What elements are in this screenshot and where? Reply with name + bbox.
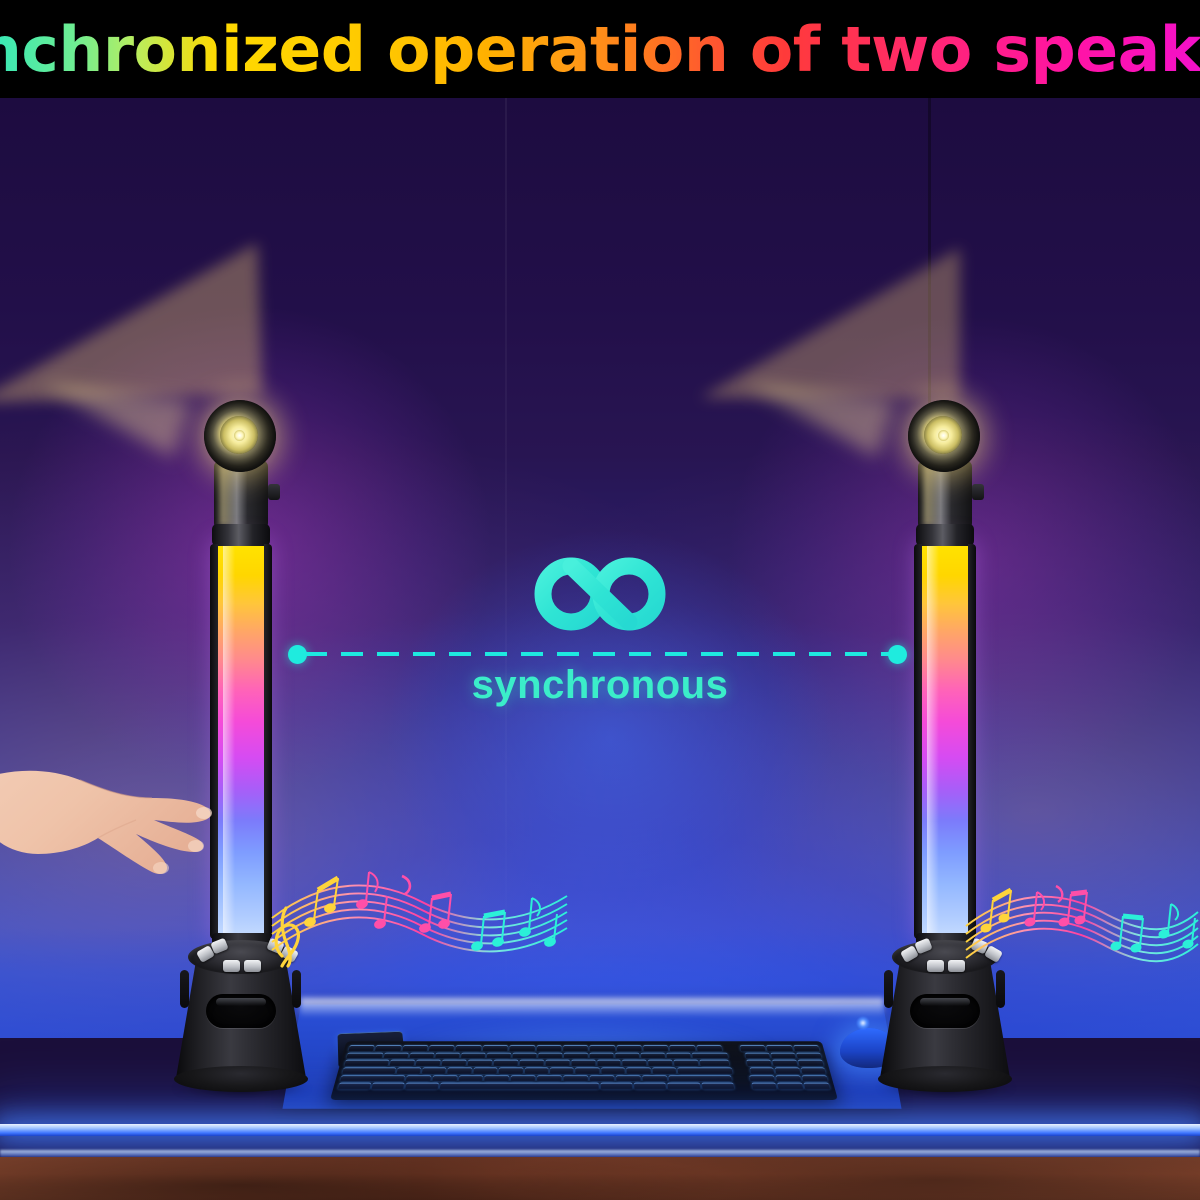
keyboard	[330, 1041, 838, 1100]
button-light[interactable]	[244, 960, 261, 972]
lamp-lens-core	[234, 430, 245, 441]
keyboard-key	[601, 1083, 633, 1089]
keyboard-key	[537, 1075, 562, 1081]
keyboard-key	[750, 1075, 776, 1081]
keyboard-key	[405, 1075, 430, 1081]
keyboard-key	[627, 1068, 651, 1074]
keyboard-key	[536, 1045, 561, 1051]
lamp-lens-core	[938, 430, 949, 441]
keyboard-key	[389, 1060, 414, 1066]
keyboard-key	[800, 1068, 825, 1074]
base-vent-right	[292, 970, 301, 1008]
keyboard-key	[771, 1053, 796, 1059]
keyboard-key	[344, 1060, 389, 1066]
lamp-neck-highlight	[924, 464, 940, 526]
keyboard-row	[342, 1068, 826, 1074]
keyboard-row	[338, 1083, 830, 1089]
lamp-pivot-knob[interactable]	[268, 484, 280, 500]
keyboard-key	[597, 1060, 621, 1066]
bass-port-highlight	[216, 998, 266, 1006]
keyboard-key	[509, 1045, 534, 1051]
tube-frame-right	[968, 544, 976, 939]
keyboard-key	[750, 1068, 775, 1074]
keyboard-key	[601, 1068, 625, 1074]
keyboard-key	[348, 1045, 374, 1051]
keyboard-key	[563, 1075, 587, 1081]
lamp-neck-highlight	[220, 464, 236, 526]
keyboard-key	[802, 1075, 828, 1081]
keyboard-key	[590, 1075, 614, 1081]
keyboard-key	[670, 1045, 696, 1051]
keyboard-row	[340, 1075, 828, 1081]
keyboard-key	[435, 1053, 460, 1059]
keyboard-key	[634, 1083, 666, 1089]
keyboard-key	[668, 1083, 700, 1089]
keyboard-key	[652, 1068, 676, 1074]
hand-touching-button	[0, 754, 244, 894]
wall-glow-center	[330, 478, 890, 998]
keyboard-key	[519, 1060, 543, 1066]
keyboard-key	[615, 1053, 639, 1059]
keyboard-key	[772, 1060, 797, 1066]
keyboard-key	[751, 1083, 777, 1089]
product-marketing-image: Synchronized operation of two speakers	[0, 0, 1200, 1200]
keyboard-key	[576, 1068, 600, 1074]
keyboard-key	[396, 1068, 421, 1074]
bass-port-highlight	[920, 998, 970, 1006]
keyboard-key	[564, 1053, 588, 1059]
keyboard-gap	[735, 1083, 751, 1089]
title-banner: Synchronized operation of two speakers	[0, 0, 1200, 98]
keyboard-key	[372, 1083, 405, 1089]
keyboard-key	[696, 1045, 722, 1051]
keyboard-key	[798, 1060, 824, 1066]
keyboard-key	[775, 1068, 800, 1074]
keyboard-key	[623, 1060, 647, 1066]
keyboard-key	[410, 1053, 435, 1059]
keyboard-gap	[729, 1053, 744, 1059]
keyboard-key	[429, 1045, 455, 1051]
speaker-base-bottom	[878, 1066, 1012, 1092]
keyboard-key	[563, 1045, 588, 1051]
keyboard-key	[448, 1068, 472, 1074]
keyboard-key	[692, 1053, 728, 1059]
keyboard-key	[700, 1060, 730, 1066]
keyboard-row	[348, 1045, 819, 1051]
keyboard-key	[617, 1045, 642, 1051]
base-vent-left	[180, 970, 189, 1008]
keyboard-key	[642, 1075, 667, 1081]
keyboard-key	[590, 1053, 614, 1059]
keyboard-key	[677, 1068, 732, 1074]
lamp-pivot-knob[interactable]	[972, 484, 984, 500]
keyboard-key	[804, 1083, 830, 1089]
tube-top-cap	[916, 524, 974, 546]
keyboard-key	[778, 1083, 804, 1089]
keyboard-key	[550, 1068, 574, 1074]
keyboard-key	[456, 1045, 482, 1051]
page-title: Synchronized operation of two speakers	[0, 13, 1200, 86]
keyboard-key	[701, 1083, 734, 1089]
base-vent-left	[884, 970, 893, 1008]
keyboard-key	[648, 1060, 672, 1066]
tube-top-cap	[212, 524, 270, 546]
base-vent-right	[996, 970, 1005, 1008]
keyboard-gap	[731, 1060, 746, 1066]
keyboard-row	[346, 1053, 821, 1059]
keyboard-key	[776, 1075, 802, 1081]
keyboard-key	[484, 1075, 509, 1081]
keyboard-key	[473, 1068, 497, 1074]
keyboard-key	[513, 1053, 537, 1059]
keyboard-key	[796, 1053, 821, 1059]
keyboard-key	[766, 1045, 792, 1051]
scene-photo: synchronous	[0, 98, 1200, 1200]
keyboard-key	[346, 1053, 383, 1059]
keyboard-key	[793, 1045, 819, 1051]
speaker-base-bottom	[174, 1066, 308, 1092]
keyboard-key	[432, 1075, 457, 1081]
keyboard-key	[511, 1075, 536, 1081]
keyboard-gap	[723, 1045, 739, 1051]
keyboard-key	[384, 1053, 409, 1059]
keyboard-key	[740, 1045, 766, 1051]
keyboard-key	[538, 1053, 562, 1059]
keyboard-row	[344, 1060, 823, 1066]
keyboard-key	[643, 1045, 668, 1051]
keyboard-key	[493, 1060, 517, 1066]
keyboard-gap	[733, 1075, 749, 1081]
keyboard-key	[747, 1060, 772, 1066]
desk-led-strip	[0, 1124, 1200, 1136]
keyboard-key	[441, 1060, 466, 1066]
keyboard-key	[340, 1075, 405, 1081]
keyboard-key	[342, 1068, 395, 1074]
keyboard-key	[402, 1045, 428, 1051]
keyboard-key	[499, 1068, 523, 1074]
keyboard-key	[571, 1060, 595, 1066]
keyboard-key	[641, 1053, 665, 1059]
keyboard-key	[338, 1083, 371, 1089]
keyboard-key	[745, 1053, 770, 1059]
button-pair[interactable]	[223, 960, 240, 972]
keyboard-key	[375, 1045, 401, 1051]
wall-seam	[505, 98, 507, 1038]
button-pair[interactable]	[927, 960, 944, 972]
keyboard-key	[483, 1045, 508, 1051]
button-light[interactable]	[948, 960, 965, 972]
desk-led-reflection	[0, 1150, 1200, 1157]
keyboard-key	[415, 1060, 440, 1066]
keyboard-key	[439, 1083, 598, 1089]
keyboard-key	[467, 1060, 492, 1066]
mouse-led-glow	[856, 1016, 870, 1030]
keyboard-key	[666, 1053, 690, 1059]
keyboard-key	[487, 1053, 511, 1059]
keyboard-key	[668, 1075, 732, 1081]
keyboard-key	[406, 1083, 439, 1089]
desk-wood-grain	[0, 1157, 1200, 1200]
keyboard-key	[422, 1068, 447, 1074]
tube-frame-left	[914, 544, 922, 939]
keyboard-key	[590, 1045, 615, 1051]
keyboard-gap	[734, 1068, 749, 1074]
keyboard-key	[461, 1053, 486, 1059]
keyboard-key	[616, 1075, 641, 1081]
keyboard-key	[545, 1060, 569, 1066]
keyboard-key	[458, 1075, 483, 1081]
rgb-light-tube	[920, 544, 970, 939]
tube-frame-right	[264, 544, 272, 939]
keyboard-key	[524, 1068, 548, 1074]
keyboard-key	[674, 1060, 699, 1066]
